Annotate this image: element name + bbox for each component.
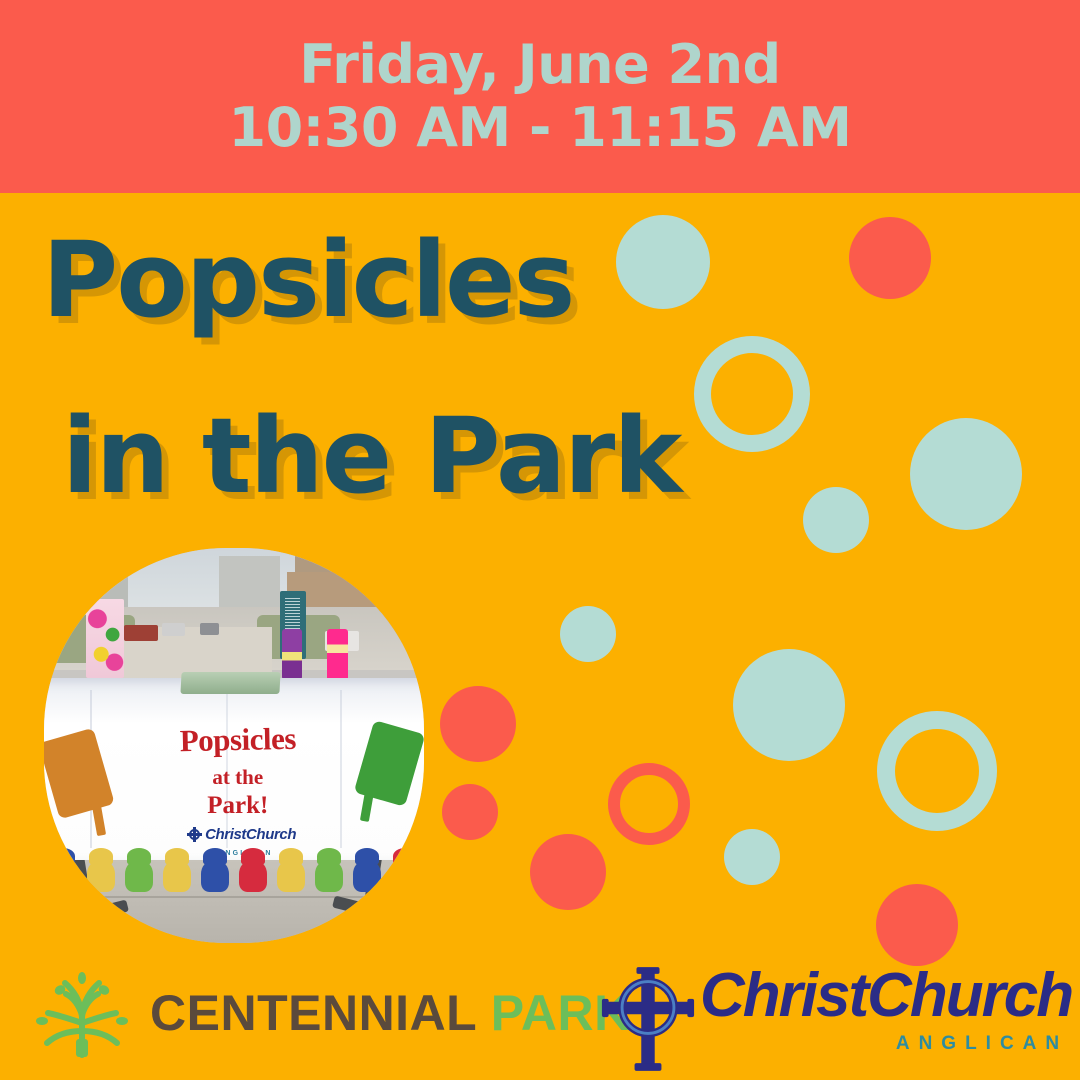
handprint: [49, 860, 76, 891]
banner-church-logo: ChristChurch: [147, 826, 337, 843]
event-date: Friday, June 2nd: [299, 37, 780, 93]
church-name: ChristChurch: [700, 965, 1072, 1027]
decorative-dot: [724, 829, 780, 885]
celtic-cross-icon: [187, 827, 202, 842]
christchurch-logo: ChristChurch ANGLICAN: [600, 965, 1072, 1071]
decorative-ring: [608, 763, 690, 845]
decorative-dot: [560, 606, 616, 662]
park-word-1: CENTENNIAL: [150, 985, 476, 1041]
car-white: [162, 623, 185, 636]
banner-line-3: Park!: [135, 793, 340, 818]
page-title: Popsicles in the Park: [42, 228, 742, 508]
handprint: [201, 860, 228, 891]
handprint: [277, 860, 304, 891]
decorative-dot: [733, 649, 845, 761]
banner-line-1: Popsicles: [120, 723, 356, 756]
decorative-dot: [530, 834, 606, 910]
cloth-fold: [340, 690, 342, 848]
banner-logo-text: ChristChurch: [205, 826, 296, 843]
building-center: [219, 556, 280, 607]
decorative-dot: [442, 784, 498, 840]
title-line-1: Popsicles: [42, 228, 742, 332]
handprint: [87, 860, 114, 891]
handprint: [353, 860, 380, 891]
decorative-dot: [910, 418, 1022, 530]
event-time: 10:30 AM - 11:15 AM: [229, 100, 852, 156]
handprint: [125, 860, 152, 891]
footer-logos: CENTENNIAL PARK ChristChurch ANGLICAN: [0, 955, 1080, 1080]
handprint: [391, 860, 418, 891]
decorative-dot: [876, 884, 958, 966]
green-folder: [180, 672, 280, 694]
car-gray: [200, 623, 219, 635]
banner-line-2: at the: [135, 767, 340, 788]
church-wordmark: ChristChurch ANGLICAN: [700, 965, 1072, 1055]
handprint-row: [44, 848, 424, 891]
park-logo-wordmark: CENTENNIAL PARK: [150, 988, 631, 1038]
decorative-dot: [803, 487, 869, 553]
title-line-2: in the Park: [62, 404, 742, 508]
tumbler-pink: [327, 629, 348, 684]
event-poster: Friday, June 2nd 10:30 AM - 11:15 AM Pop…: [0, 0, 1080, 1080]
church-subtitle: ANGLICAN: [700, 1033, 1068, 1055]
photo-scene: Popsicles at the Park! ChristChurch ANGL…: [44, 548, 424, 943]
handprint: [315, 860, 342, 891]
decorative-ring: [877, 711, 997, 831]
tree-icon: [30, 963, 134, 1063]
car-red: [124, 625, 158, 641]
celtic-cross-icon: [600, 967, 696, 1071]
handprint: [239, 860, 266, 891]
floral-sign: [86, 599, 124, 678]
tumbler-purple: [282, 629, 303, 680]
decorative-dot: [849, 217, 931, 299]
handprint: [163, 860, 190, 891]
event-header-band: Friday, June 2nd 10:30 AM - 11:15 AM: [0, 0, 1080, 193]
decorative-dot: [440, 686, 516, 762]
centennial-park-logo: CENTENNIAL PARK: [30, 963, 631, 1063]
event-photo: Popsicles at the Park! ChristChurch ANGL…: [44, 548, 424, 943]
